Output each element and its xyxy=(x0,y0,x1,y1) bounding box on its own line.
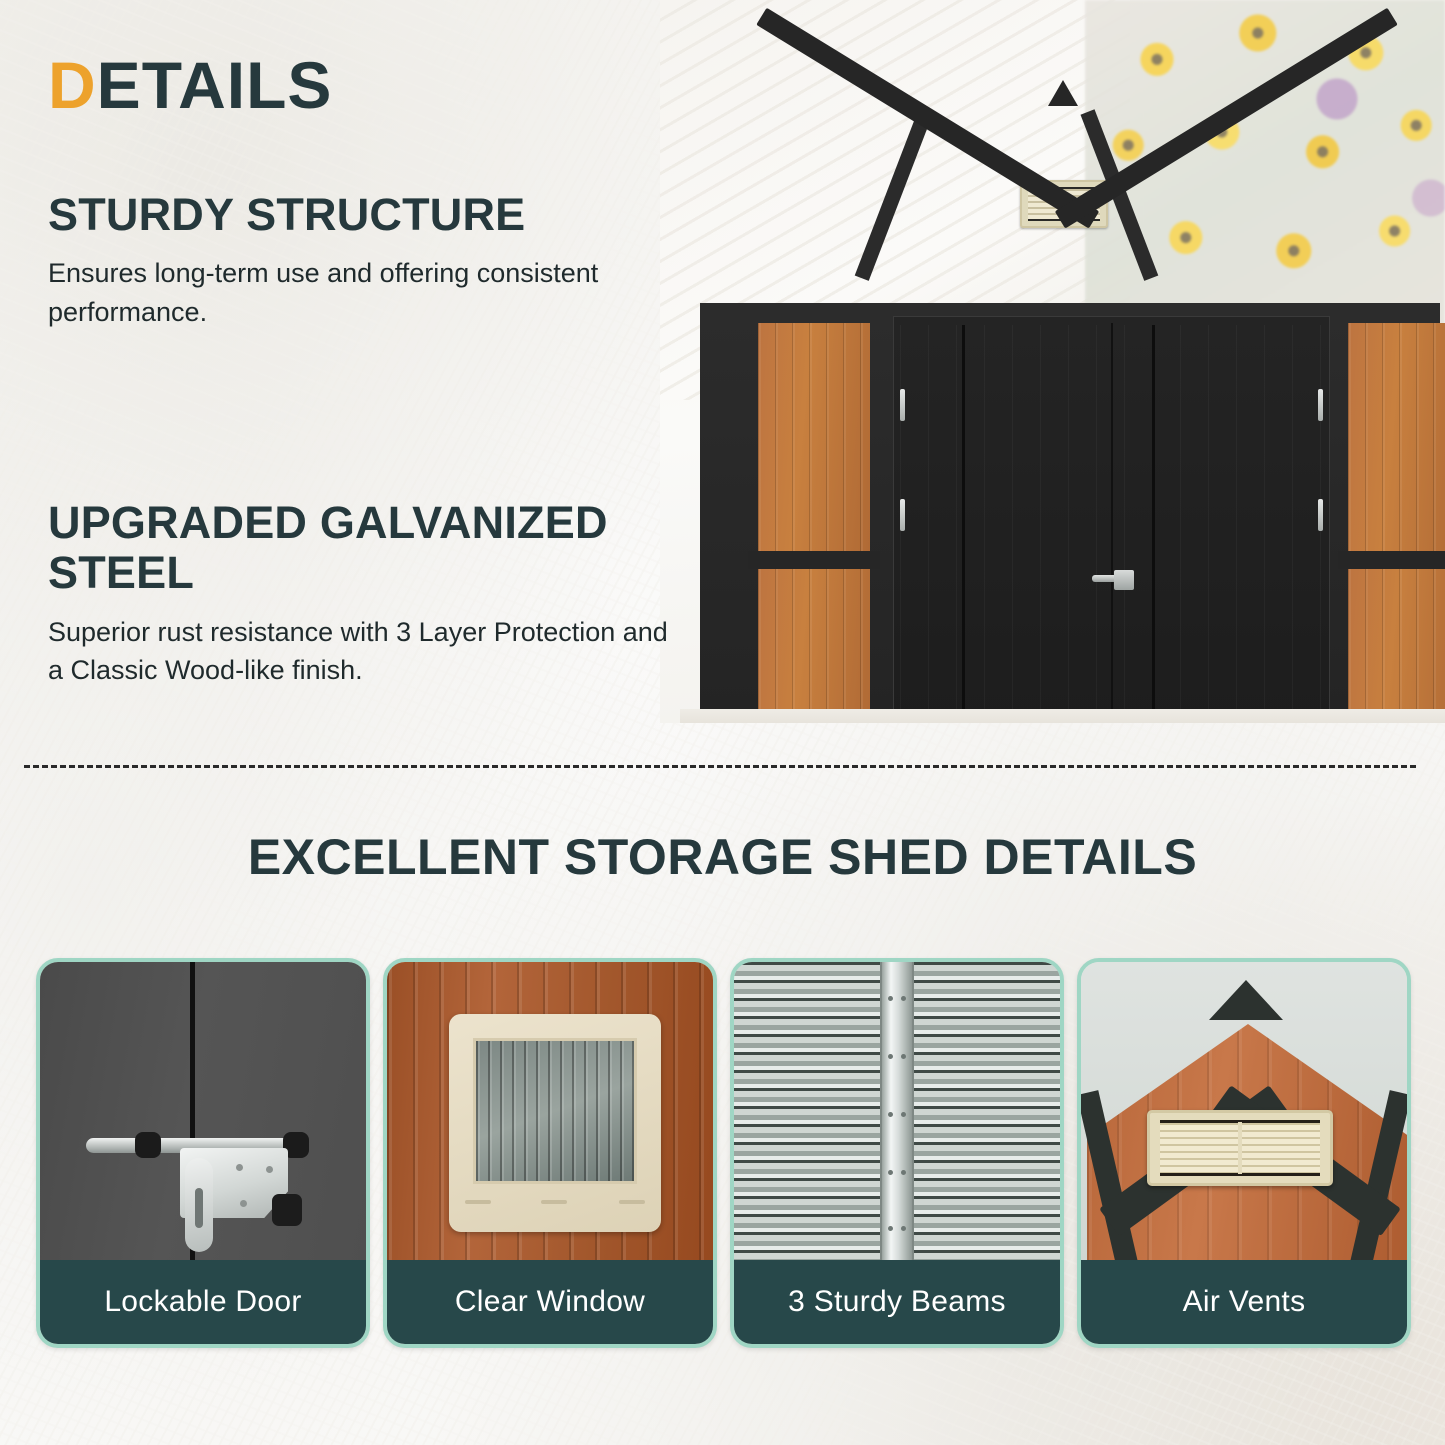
beams-photo xyxy=(734,962,1060,1268)
bolt-end-tab xyxy=(272,1194,302,1226)
dashed-divider xyxy=(24,765,1416,768)
door-hinge xyxy=(1318,499,1323,531)
shed-body-wall xyxy=(700,303,1440,723)
roof-peak xyxy=(1048,80,1078,106)
beam-rivet xyxy=(888,996,893,1001)
sill-notch xyxy=(619,1200,645,1204)
door-photo xyxy=(40,962,366,1268)
card-label-air-vents: Air Vents xyxy=(1081,1260,1407,1344)
beam-rivet xyxy=(888,1226,893,1231)
beam-rivet xyxy=(901,1054,906,1059)
feature-block-galvanized-steel: UPGRADED GALVANIZED STEEL Superior rust … xyxy=(48,498,668,689)
card-media-lockable-door xyxy=(40,962,366,1268)
vent-center-divider xyxy=(1238,1122,1242,1174)
beam-rivet xyxy=(901,996,906,1001)
beam-rivet xyxy=(888,1054,893,1059)
card-media-clear-window xyxy=(387,962,713,1268)
window-glass xyxy=(473,1038,637,1184)
trim-rail-right xyxy=(1338,551,1445,569)
wood-panel-left-top xyxy=(758,323,870,551)
feature-body: Ensures long-term use and offering consi… xyxy=(48,254,668,331)
support-beam xyxy=(880,962,914,1268)
beam-rivet xyxy=(901,1170,906,1175)
door-latch-icon xyxy=(1092,570,1134,590)
wood-panel-right-bottom xyxy=(1348,569,1445,723)
bolt-knob xyxy=(135,1132,161,1158)
rivet xyxy=(236,1164,243,1171)
card-label-lockable-door: Lockable Door xyxy=(40,1260,366,1344)
feature-card-lockable-door[interactable]: Lockable Door xyxy=(36,958,370,1348)
padlock-hasp xyxy=(185,1158,213,1252)
title-accent-letter: D xyxy=(48,48,97,122)
feature-card-air-vents[interactable]: Air Vents xyxy=(1077,958,1411,1348)
card-label-clear-window: Clear Window xyxy=(387,1260,713,1344)
door-seam xyxy=(962,325,965,718)
roof-peak-cap xyxy=(1209,980,1283,1020)
feature-block-sturdy-structure: STURDY STRUCTURE Ensures long-term use a… xyxy=(48,190,668,331)
card-media-sturdy-beams xyxy=(734,962,1060,1268)
door-hinge xyxy=(900,499,905,531)
wood-panel-left-bottom xyxy=(758,569,870,723)
door-seam xyxy=(1152,325,1155,718)
sill-notch xyxy=(541,1200,567,1204)
door-hinge xyxy=(1318,389,1323,421)
air-vent-photo xyxy=(1081,962,1407,1268)
door-center-split xyxy=(1111,323,1113,723)
title-rest: ETAILS xyxy=(97,48,333,122)
wood-panel-right-top xyxy=(1348,323,1445,551)
beam-rivet xyxy=(888,1170,893,1175)
rivet xyxy=(240,1200,247,1207)
card-label-sturdy-beams: 3 Sturdy Beams xyxy=(734,1260,1060,1344)
hero-shed-image xyxy=(660,0,1445,723)
feature-body: Superior rust resistance with 3 Layer Pr… xyxy=(48,613,668,690)
feature-card-clear-window[interactable]: Clear Window xyxy=(383,958,717,1348)
section-heading: EXCELLENT STORAGE SHED DETAILS xyxy=(0,828,1445,886)
door-hinge xyxy=(900,389,905,421)
feature-heading: STURDY STRUCTURE xyxy=(48,190,668,240)
beam-rivet xyxy=(901,1226,906,1231)
feature-heading: UPGRADED GALVANIZED STEEL xyxy=(48,498,668,599)
window-photo xyxy=(387,962,713,1268)
shed-illustration xyxy=(680,60,1440,723)
feature-card-sturdy-beams[interactable]: 3 Sturdy Beams xyxy=(730,958,1064,1348)
window-frame xyxy=(449,1014,661,1232)
card-media-air-vents xyxy=(1081,962,1407,1268)
latch-plate xyxy=(1114,570,1134,590)
feature-cards-row: Lockable Door Clear Window xyxy=(36,958,1414,1348)
shed-double-doors xyxy=(893,316,1330,723)
page-title: DETAILS xyxy=(48,52,332,118)
ground-strip xyxy=(680,709,1445,723)
beam-rivet xyxy=(901,1112,906,1117)
rivet xyxy=(266,1166,273,1173)
beam-rivet xyxy=(888,1112,893,1117)
louvered-vent xyxy=(1147,1110,1333,1186)
sill-notch xyxy=(465,1200,491,1204)
trim-rail-left xyxy=(748,551,880,569)
